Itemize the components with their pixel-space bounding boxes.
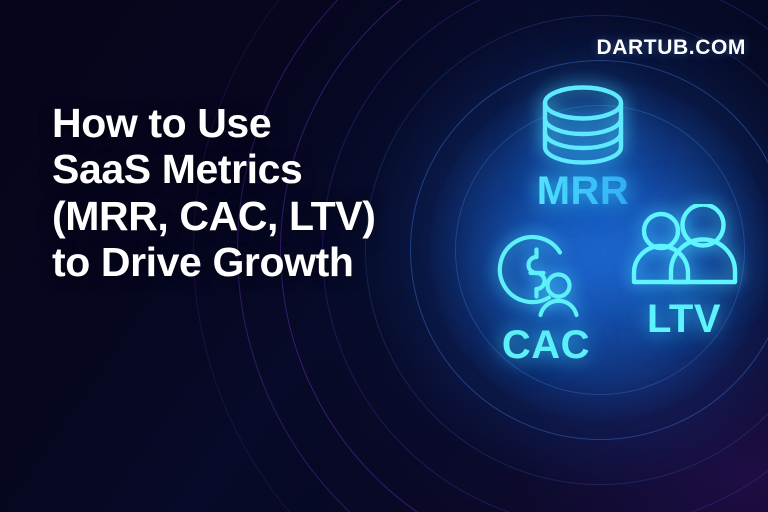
brand-watermark: DARTUB.COM: [597, 36, 746, 60]
two-people-icon: [616, 204, 752, 299]
metric-mrr: MRR: [498, 84, 668, 211]
title-line-2: SaaS Metrics: [52, 146, 375, 192]
title-line-3: (MRR, CAC, LTV): [52, 193, 375, 239]
dollar-person-icon: [466, 226, 626, 325]
metric-ltv: LTV: [616, 204, 752, 339]
title-line-4: to Drive Growth: [52, 239, 375, 285]
metric-cac-label: CAC: [466, 325, 626, 365]
banner-canvas: DARTUB.COM How to Use SaaS Metrics (MRR,…: [0, 0, 768, 512]
metric-ltv-label: LTV: [616, 299, 752, 339]
metric-cac: CAC: [466, 226, 626, 365]
title-line-1: How to Use: [52, 100, 375, 146]
database-icon: [498, 84, 668, 171]
page-title: How to Use SaaS Metrics (MRR, CAC, LTV) …: [52, 100, 375, 285]
